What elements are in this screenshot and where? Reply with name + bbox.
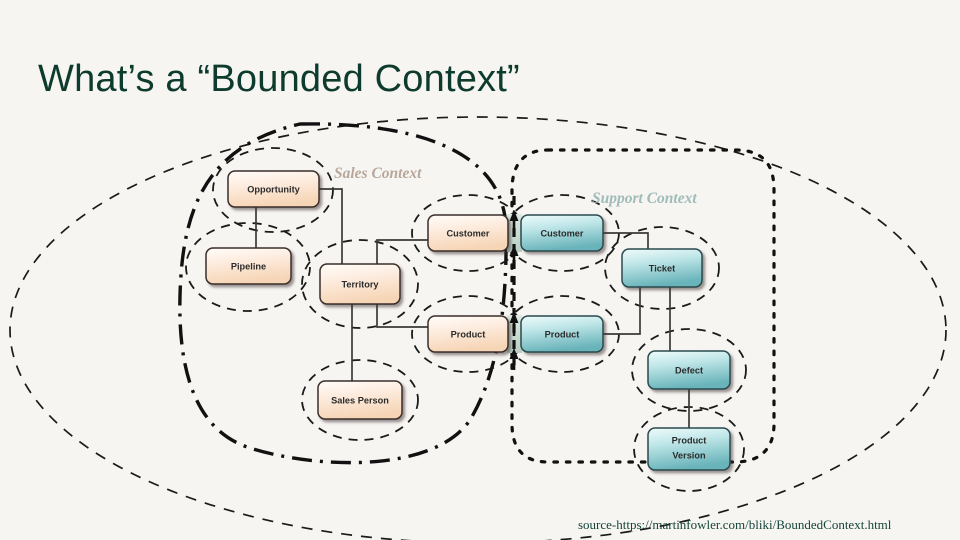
node-product-support-label: Product: [545, 329, 580, 339]
node-pipeline-label: Pipeline: [231, 261, 266, 271]
node-sales-person[interactable]: Sales Person: [318, 381, 402, 419]
node-customer-support[interactable]: Customer: [521, 215, 603, 251]
edge-opportunity-territory: [319, 189, 342, 264]
node-defect[interactable]: Defect: [648, 351, 730, 389]
node-sales-person-label: Sales Person: [331, 395, 389, 405]
node-pipeline[interactable]: Pipeline: [206, 248, 291, 284]
node-territory-label: Territory: [341, 279, 379, 289]
node-product-version[interactable]: Product Version: [648, 428, 730, 470]
source-citation: source-https://martinfowler.com/bliki/Bo…: [578, 517, 891, 533]
node-product-version-label-line1: Product: [672, 435, 707, 445]
node-opportunity[interactable]: Opportunity: [228, 171, 319, 207]
node-customer-sales-label: Customer: [447, 228, 490, 238]
node-product-support[interactable]: Product: [521, 316, 603, 352]
sales-context-label: Sales Context: [334, 165, 422, 182]
edge-customer-ticket: [603, 233, 648, 249]
node-ticket[interactable]: Ticket: [622, 249, 702, 287]
node-product-sales-label: Product: [451, 329, 486, 339]
edge-product-ticket: [603, 287, 640, 334]
slide-canvas: What’s a “Bounded Context”: [0, 0, 960, 540]
support-context-label: Support Context: [592, 190, 697, 207]
sales-context-nodes: Opportunity Pipeline Territory Sales Per…: [206, 171, 508, 419]
support-context-nodes: Customer Product Ticket Defect Product V…: [521, 215, 730, 470]
bounded-context-diagram: Opportunity Pipeline Territory Sales Per…: [0, 0, 960, 540]
node-customer-sales[interactable]: Customer: [428, 215, 508, 251]
edge-territory-customer: [377, 240, 428, 264]
node-territory[interactable]: Territory: [320, 264, 400, 304]
context-seam: [507, 196, 522, 370]
node-ticket-label: Ticket: [649, 263, 675, 273]
node-defect-label: Defect: [675, 365, 703, 375]
node-customer-support-label: Customer: [541, 228, 584, 238]
node-product-sales[interactable]: Product: [428, 316, 508, 352]
node-opportunity-label: Opportunity: [247, 184, 300, 194]
node-product-version-label-line2: Version: [672, 450, 706, 460]
